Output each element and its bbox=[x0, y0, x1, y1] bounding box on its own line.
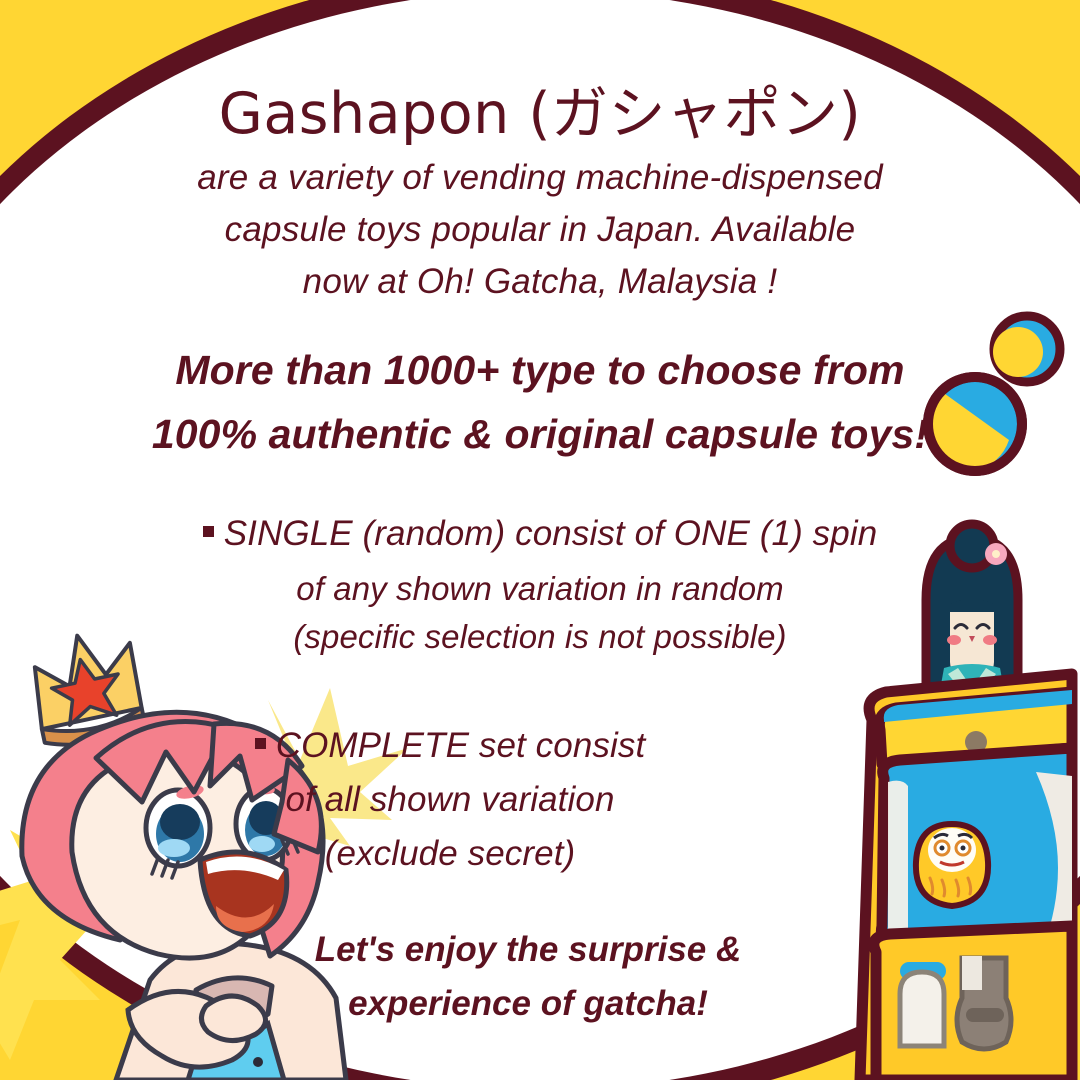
poster-canvas: Gashapon (ガシャポン) are a variety of vendin… bbox=[0, 0, 1080, 1080]
complete-option-text-1: COMPLETE set consist bbox=[276, 726, 646, 765]
complete-option-line-2: of all shown variation bbox=[0, 782, 990, 817]
single-option-line-3: (specific selection is not possible) bbox=[0, 620, 1080, 653]
bullet-square-icon-2 bbox=[255, 738, 266, 749]
closing-line-2: experience of gatcha! bbox=[0, 986, 1068, 1021]
bullet-square-icon bbox=[203, 526, 214, 537]
lede-line-1: are a variety of vending machine-dispens… bbox=[0, 160, 1080, 195]
anime-girl-icon bbox=[22, 712, 346, 1080]
single-option-text-1: SINGLE (random) consist of ONE (1) spin bbox=[224, 514, 878, 553]
lede-line-2: capsule toys popular in Japan. Available bbox=[0, 212, 1080, 247]
complete-option-line-1: COMPLETE set consist bbox=[0, 728, 990, 763]
single-option-line-1: SINGLE (random) consist of ONE (1) spin bbox=[0, 516, 1080, 551]
hero-line-2: 100% authentic & original capsule toys! bbox=[0, 414, 1080, 455]
lede-line-3: now at Oh! Gatcha, Malaysia ! bbox=[0, 264, 1080, 299]
hero-line-1: More than 1000+ type to choose from bbox=[0, 350, 1080, 391]
page-title: Gashapon (ガシャポン) bbox=[0, 86, 1080, 143]
closing-line-1: Let's enjoy the surprise & bbox=[0, 932, 1068, 967]
single-option-line-2: of any shown variation in random bbox=[0, 572, 1080, 605]
complete-option-line-3: (exclude secret) bbox=[0, 836, 990, 871]
